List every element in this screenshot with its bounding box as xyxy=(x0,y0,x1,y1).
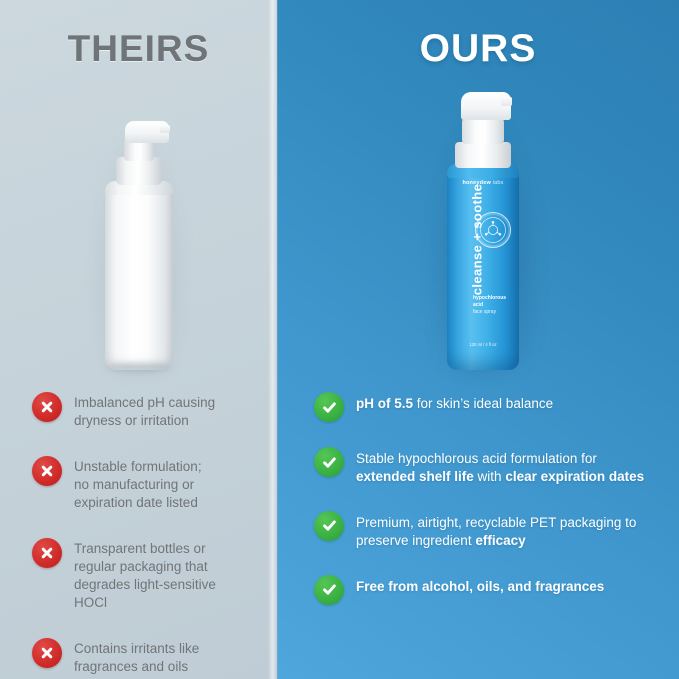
list-item-label: Transparent bottles or regular packaging… xyxy=(74,538,216,612)
list-item: Premium, airtight, recyclable PET packag… xyxy=(314,511,654,550)
list-item-label: Unstable formulation; no manufacturing o… xyxy=(74,456,202,512)
list-item-label: Contains irritants like fragrances and o… xyxy=(74,638,199,676)
list-item: Imbalanced pH causing dryness or irritat… xyxy=(32,392,256,430)
bottle-body: honeydew labs hypochlorous acid face spr… xyxy=(447,170,519,370)
bottle-collar xyxy=(455,142,511,168)
bottle-body xyxy=(105,185,173,370)
x-mark-icon xyxy=(32,392,62,422)
competitor-bottle-image xyxy=(103,115,175,370)
comparison-infographic: THEIRS Imbalanced pH causing dryness xyxy=(0,0,679,679)
check-mark-icon xyxy=(314,511,344,541)
x-mark-icon xyxy=(32,456,62,486)
list-item-label: Stable hypochlorous acid formulation for… xyxy=(356,447,654,486)
theirs-bullet-list: Imbalanced pH causing dryness or irritat… xyxy=(32,392,256,679)
x-mark-icon xyxy=(32,638,62,668)
nozzle-tip-icon xyxy=(160,125,170,133)
list-item: Contains irritants like fragrances and o… xyxy=(32,638,256,676)
bottle-vertical-label: cleanse + soothe xyxy=(470,180,485,300)
panel-divider xyxy=(268,0,278,679)
list-item-label: Premium, airtight, recyclable PET packag… xyxy=(356,511,654,550)
ours-bullet-list: pH of 5.5 for skin’s ideal balance Stabl… xyxy=(314,392,654,630)
check-mark-icon xyxy=(314,447,344,477)
list-item: pH of 5.5 for skin’s ideal balance xyxy=(314,392,654,422)
nozzle-tip-icon xyxy=(501,97,512,106)
list-item-label: Free from alcohol, oils, and fragrances xyxy=(356,575,604,596)
bottle-neck xyxy=(462,118,504,144)
list-item-label: Imbalanced pH causing dryness or irritat… xyxy=(74,392,215,430)
theirs-panel: THEIRS Imbalanced pH causing dryness xyxy=(0,0,277,679)
list-item: Unstable formulation; no manufacturing o… xyxy=(32,456,256,512)
ours-heading: OURS xyxy=(277,27,679,71)
list-item: Transparent bottles or regular packaging… xyxy=(32,538,256,612)
list-item-label: pH of 5.5 for skin’s ideal balance xyxy=(356,392,553,413)
list-item: Free from alcohol, oils, and fragrances xyxy=(314,575,654,605)
bottle-volume-label: 120 ml / 4 fl oz xyxy=(447,342,519,347)
list-item: Stable hypochlorous acid formulation for… xyxy=(314,447,654,486)
x-mark-icon xyxy=(32,538,62,568)
check-mark-icon xyxy=(314,575,344,605)
theirs-heading: THEIRS xyxy=(0,28,277,70)
check-mark-icon xyxy=(314,392,344,422)
product-bottle-image: honeydew labs hypochlorous acid face spr… xyxy=(437,88,533,370)
bottle-collar xyxy=(116,157,162,185)
bottle-base-shadow xyxy=(107,363,171,371)
